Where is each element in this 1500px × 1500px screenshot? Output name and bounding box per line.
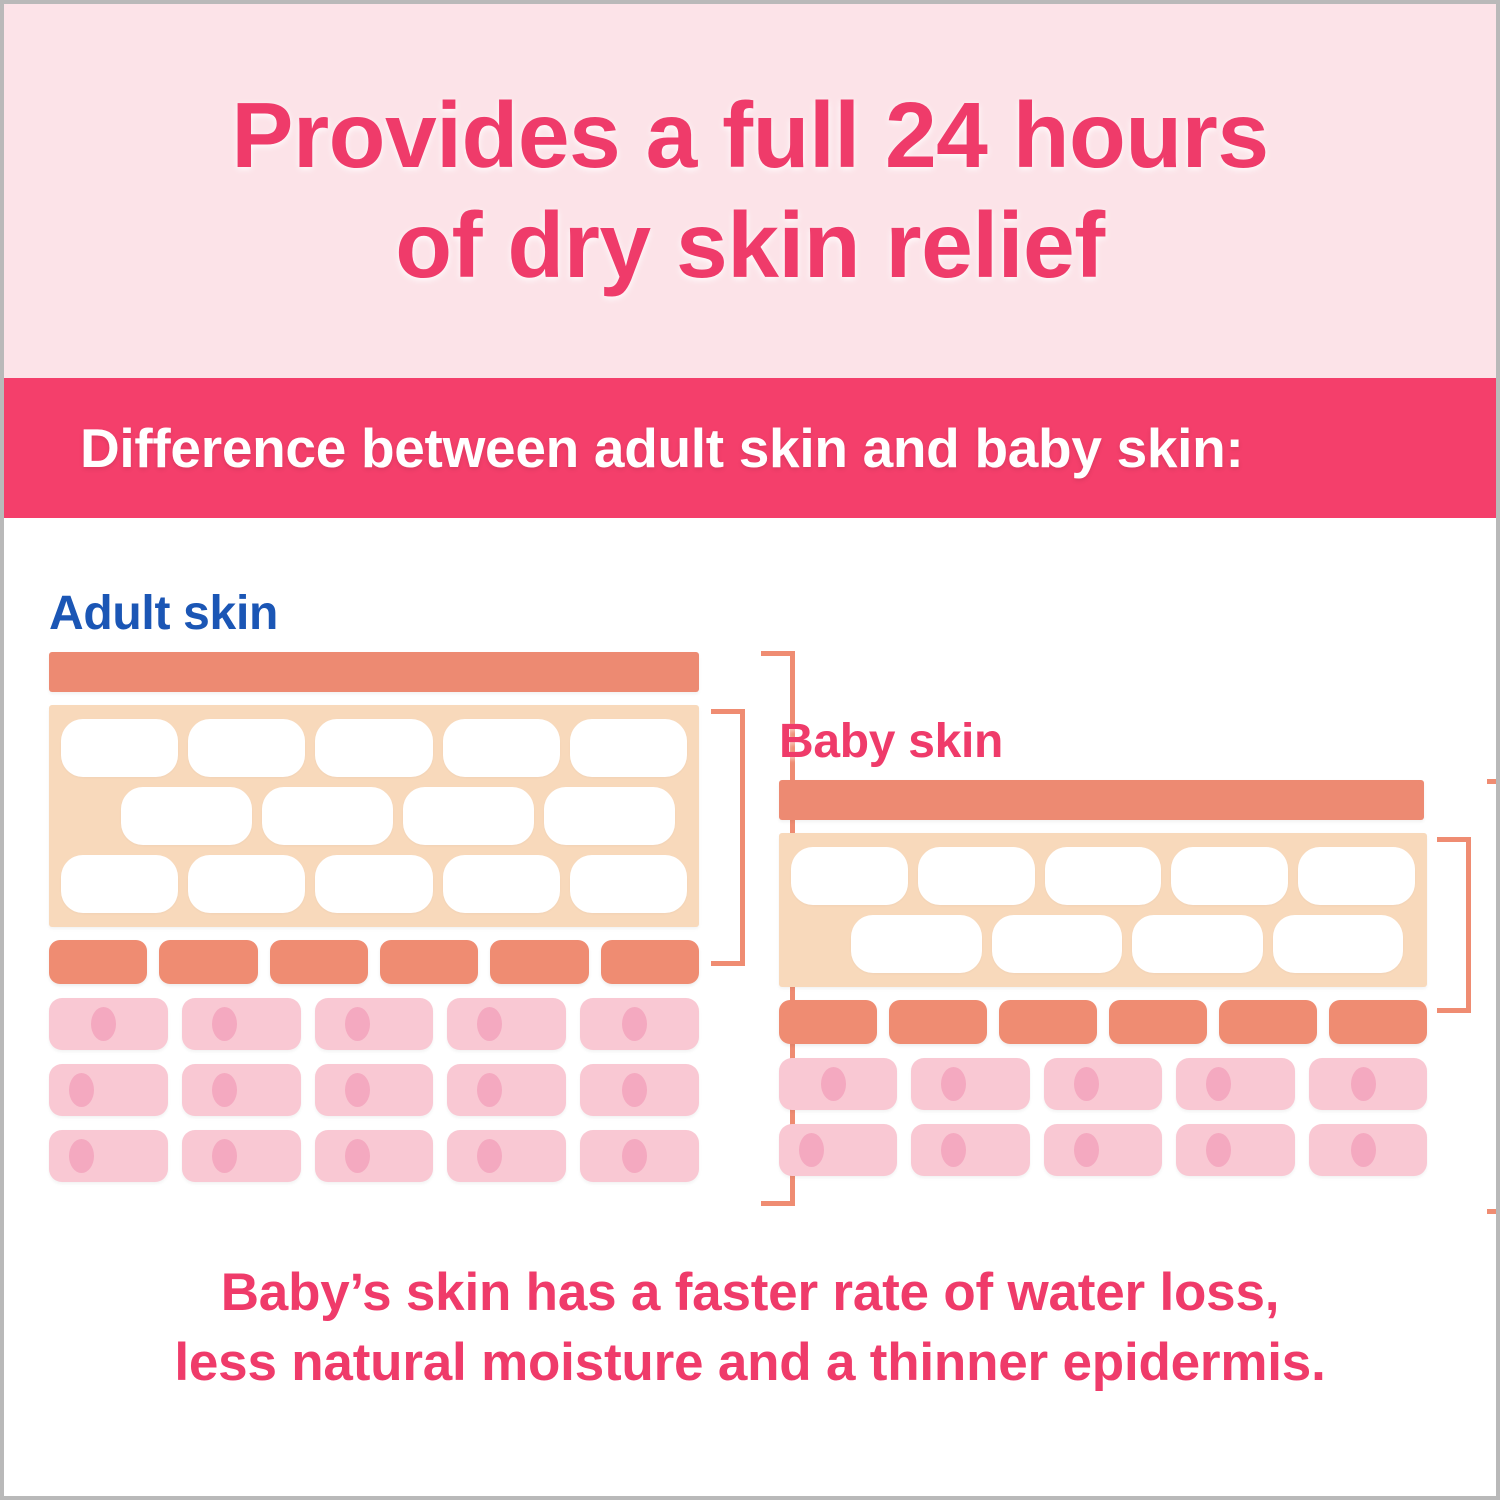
dermis-cell — [315, 1130, 434, 1182]
dermis-cell — [447, 1064, 566, 1116]
adult-skin-diagram: Adult skin — [49, 590, 749, 1182]
granular-cell — [270, 940, 368, 984]
granular-cell — [1109, 1000, 1207, 1044]
granular-cell — [380, 940, 478, 984]
cell-nucleus — [1351, 1067, 1376, 1101]
epidermis-cell — [262, 787, 393, 845]
dermis-cell — [182, 1130, 301, 1182]
epidermis-cell — [443, 855, 560, 913]
cell-nucleus — [477, 1073, 502, 1107]
dermis-cell — [911, 1124, 1029, 1176]
epidermis-cell — [403, 787, 534, 845]
adult-epidermis-row — [61, 787, 687, 845]
dermis-cell — [315, 1064, 434, 1116]
baby-epidermis-block — [779, 833, 1427, 987]
adult-dermis-row — [49, 1130, 699, 1182]
baby-full-skin-bracket — [1487, 779, 1500, 1214]
dermis-cell — [779, 1058, 897, 1110]
dermis-cell — [182, 1064, 301, 1116]
section-banner: Difference between adult skin and baby s… — [4, 378, 1496, 518]
dermis-cell — [182, 998, 301, 1050]
infographic-page: Provides a full 24 hours of dry skin rel… — [0, 0, 1500, 1500]
adult-stratum-corneum-bar — [49, 652, 699, 692]
adult-dermis-row — [49, 998, 699, 1050]
cell-nucleus — [622, 1073, 647, 1107]
baby-dermis-row — [779, 1058, 1427, 1110]
adult-skin-label: Adult skin — [49, 590, 749, 638]
cell-nucleus — [1351, 1133, 1376, 1167]
adult-dermis-row — [49, 1064, 699, 1116]
epidermis-cell — [1045, 847, 1162, 905]
adult-epidermis-row — [61, 855, 687, 913]
dermis-cell — [580, 1064, 699, 1116]
cell-nucleus — [477, 1139, 502, 1173]
dermis-cell — [447, 1130, 566, 1182]
epidermis-cell — [188, 719, 305, 777]
epidermis-cell — [188, 855, 305, 913]
dermis-cell — [911, 1058, 1029, 1110]
cell-nucleus — [622, 1139, 647, 1173]
epidermis-cell — [61, 719, 178, 777]
epidermis-cell — [1273, 915, 1404, 973]
epidermis-cell — [918, 847, 1035, 905]
baby-granular-layer-row — [779, 1000, 1427, 1044]
granular-cell — [1329, 1000, 1427, 1044]
dermis-cell — [447, 998, 566, 1050]
cell-nucleus — [799, 1133, 824, 1167]
skin-comparison-diagram: Adult skin — [4, 518, 1496, 1258]
baby-epidermis-bracket — [1437, 837, 1471, 1013]
cell-nucleus — [212, 1073, 237, 1107]
granular-cell — [1219, 1000, 1317, 1044]
dermis-cell — [580, 1130, 699, 1182]
cell-nucleus — [1206, 1067, 1231, 1101]
granular-cell — [159, 940, 257, 984]
granular-cell — [779, 1000, 877, 1044]
baby-skin-label: Baby skin — [779, 718, 1479, 766]
dermis-cell — [1309, 1058, 1427, 1110]
cell-nucleus — [477, 1007, 502, 1041]
dermis-cell — [779, 1124, 897, 1176]
hero-title: Provides a full 24 hours of dry skin rel… — [171, 81, 1328, 300]
dermis-cell — [1176, 1058, 1294, 1110]
epidermis-cell — [992, 915, 1123, 973]
epidermis-cell — [1298, 847, 1415, 905]
epidermis-cell — [851, 915, 982, 973]
granular-cell — [601, 940, 699, 984]
adult-granular-layer-row — [49, 940, 699, 984]
dermis-cell — [1309, 1124, 1427, 1176]
granular-cell — [49, 940, 147, 984]
adult-epidermis-row — [61, 719, 687, 777]
baby-epidermis-row — [791, 915, 1415, 973]
cell-nucleus — [345, 1139, 370, 1173]
hero-section: Provides a full 24 hours of dry skin rel… — [4, 4, 1496, 378]
epidermis-cell — [315, 855, 432, 913]
baby-epidermis-row — [791, 847, 1415, 905]
dermis-cell — [580, 998, 699, 1050]
cell-nucleus — [91, 1007, 116, 1041]
cell-nucleus — [69, 1073, 94, 1107]
dermis-cell — [315, 998, 434, 1050]
granular-cell — [999, 1000, 1097, 1044]
cell-nucleus — [212, 1139, 237, 1173]
dermis-cell — [49, 998, 168, 1050]
cell-nucleus — [1074, 1133, 1099, 1167]
adult-epidermis-block — [49, 705, 699, 927]
baby-dermis-row — [779, 1124, 1427, 1176]
adult-epidermis-bracket — [711, 709, 745, 966]
epidermis-cell — [315, 719, 432, 777]
dermis-cell — [1044, 1124, 1162, 1176]
epidermis-cell — [1171, 847, 1288, 905]
epidermis-cell — [791, 847, 908, 905]
footer-caption: Baby’s skin has a faster rate of water l… — [4, 1258, 1496, 1398]
epidermis-cell — [570, 855, 687, 913]
dermis-cell — [49, 1064, 168, 1116]
epidermis-cell — [1132, 915, 1263, 973]
cell-nucleus — [941, 1067, 966, 1101]
cell-nucleus — [821, 1067, 846, 1101]
epidermis-cell — [443, 719, 560, 777]
baby-skin-diagram: Baby skin — [779, 718, 1479, 1176]
granular-cell — [490, 940, 588, 984]
epidermis-cell — [121, 787, 252, 845]
dermis-cell — [49, 1130, 168, 1182]
cell-nucleus — [345, 1073, 370, 1107]
dermis-cell — [1176, 1124, 1294, 1176]
baby-stratum-corneum-bar — [779, 780, 1424, 820]
cell-nucleus — [941, 1133, 966, 1167]
cell-nucleus — [622, 1007, 647, 1041]
cell-nucleus — [1206, 1133, 1231, 1167]
dermis-cell — [1044, 1058, 1162, 1110]
banner-title: Difference between adult skin and baby s… — [4, 416, 1243, 480]
epidermis-cell — [61, 855, 178, 913]
epidermis-cell — [544, 787, 675, 845]
cell-nucleus — [69, 1139, 94, 1173]
cell-nucleus — [1074, 1067, 1099, 1101]
granular-cell — [889, 1000, 987, 1044]
cell-nucleus — [345, 1007, 370, 1041]
cell-nucleus — [212, 1007, 237, 1041]
epidermis-cell — [570, 719, 687, 777]
